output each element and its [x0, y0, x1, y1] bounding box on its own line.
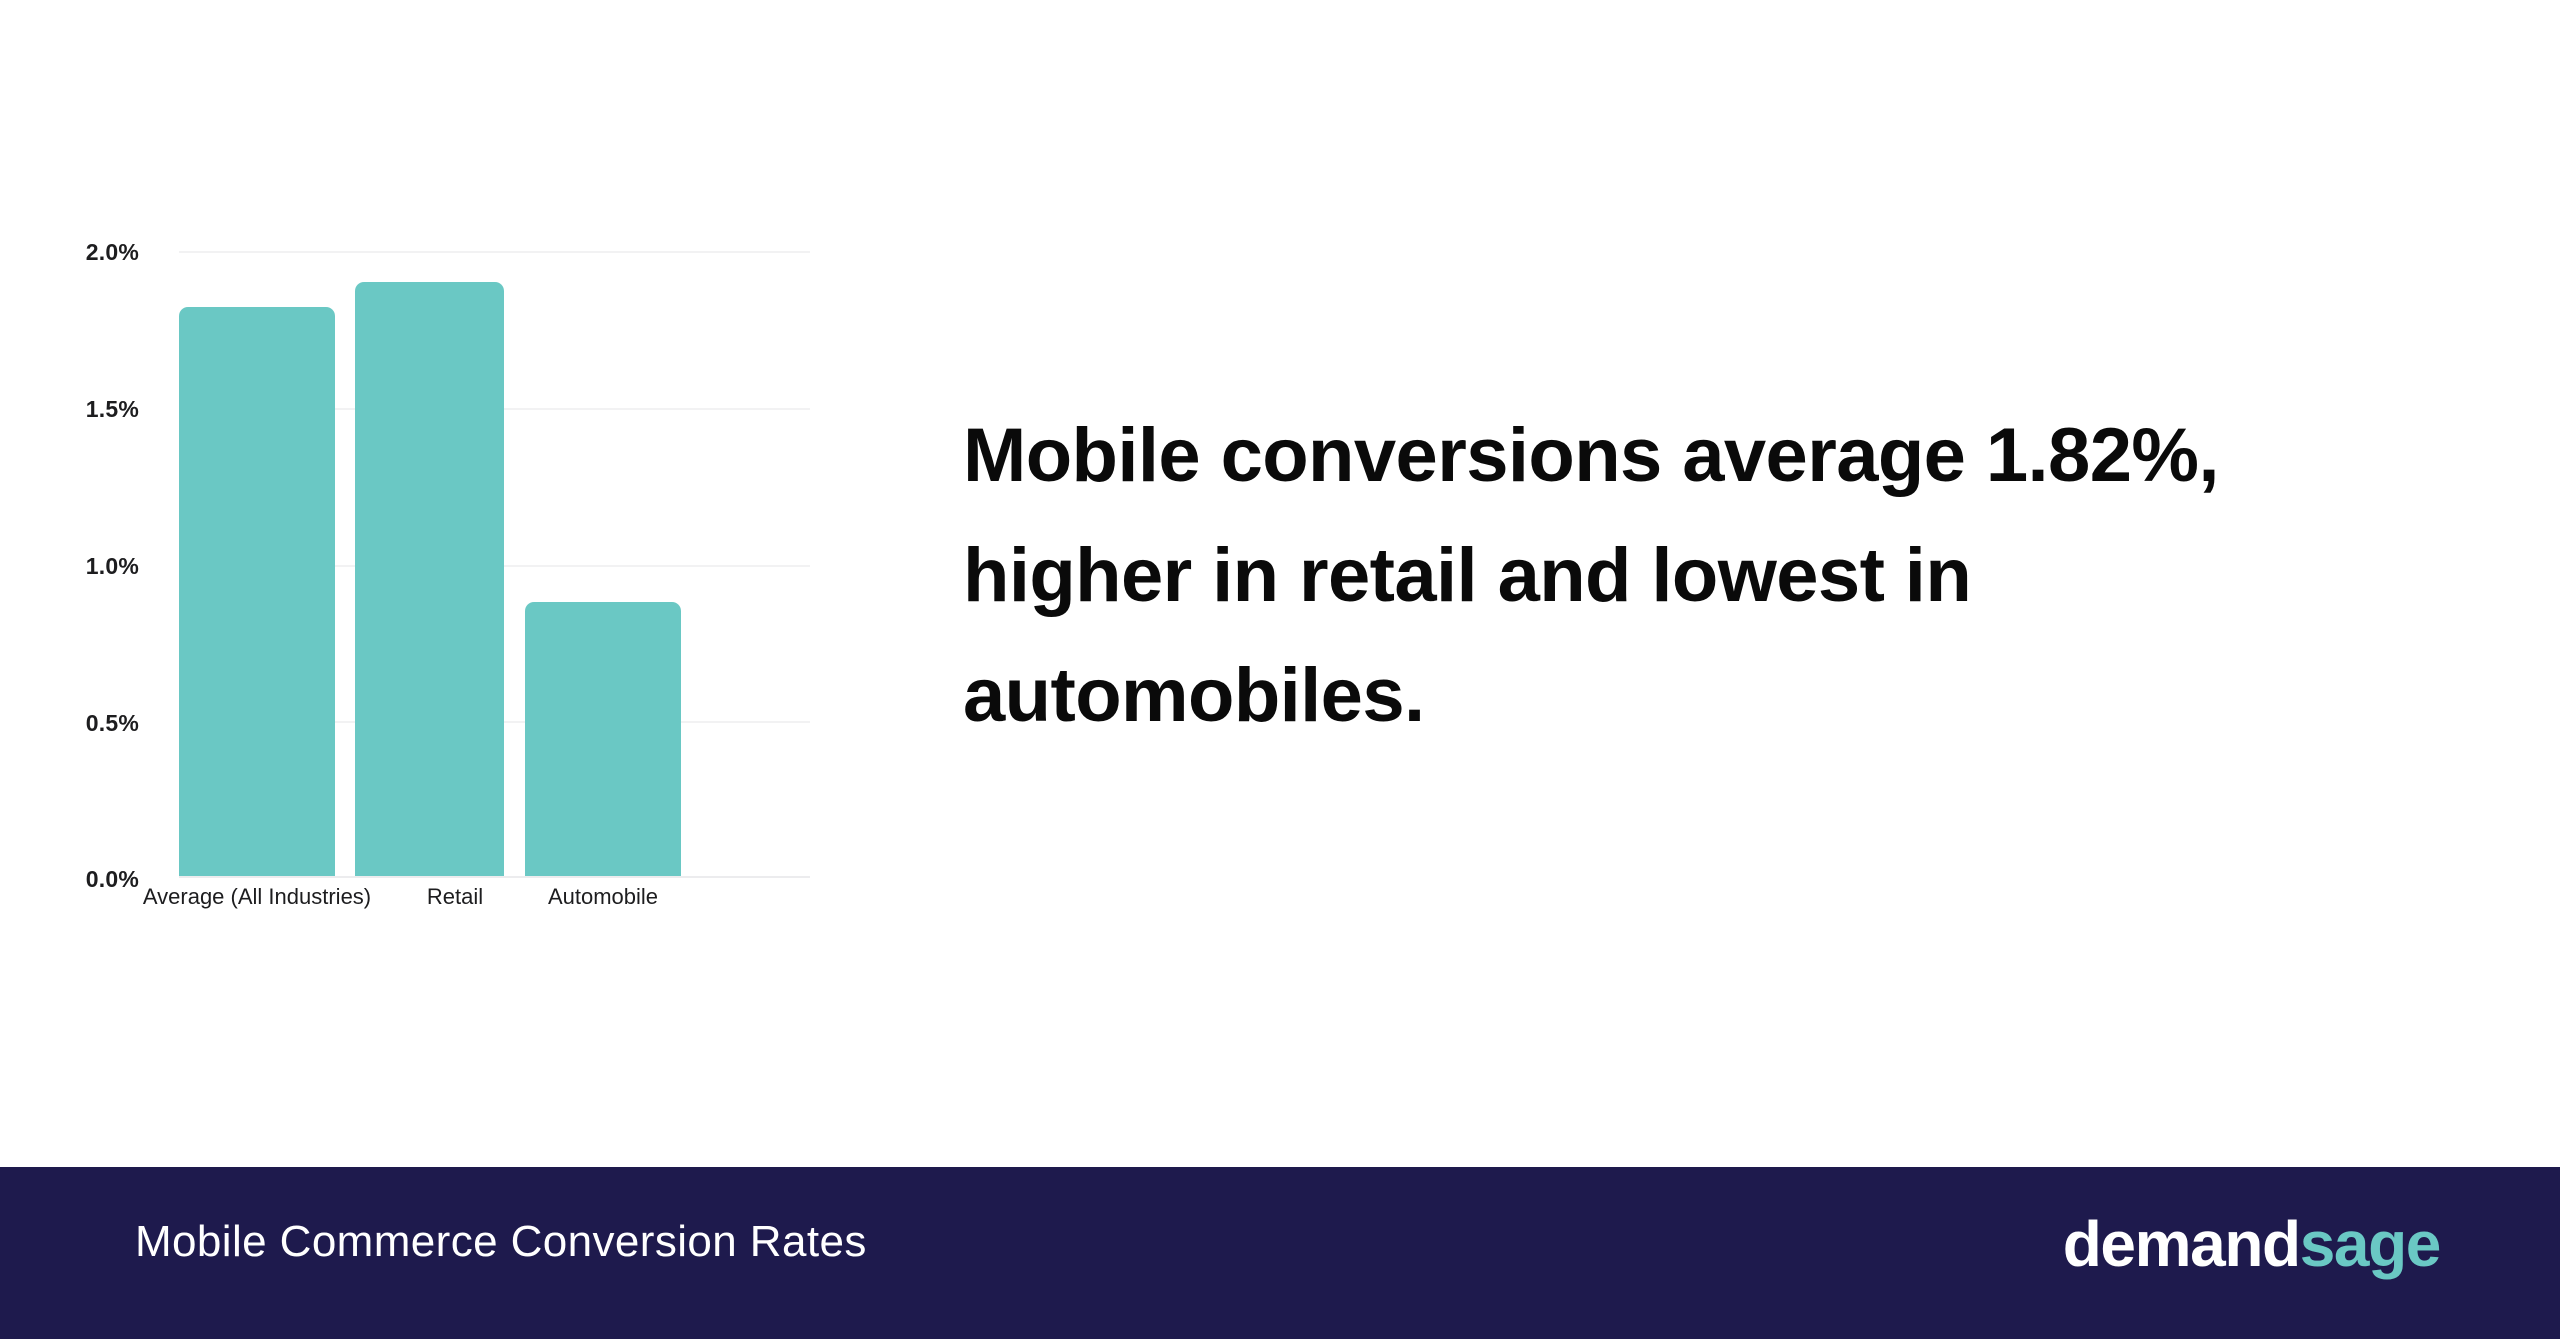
demandsage-logo[interactable]: demandsage — [2063, 1207, 2440, 1281]
plot-area — [179, 251, 810, 878]
headline-line-1: Mobile conversions average 1.82%, — [963, 396, 2503, 516]
headline: Mobile conversions average 1.82%, higher… — [963, 396, 2503, 756]
bar-average-all-industries[interactable] — [179, 307, 335, 878]
footer-bar: Mobile Commerce Conversion Rates demands… — [0, 1167, 2560, 1339]
x-axis-baseline — [179, 876, 810, 878]
infographic-canvas: 2.0% 1.5% 1.0% 0.5% 0.0% Average (All In… — [0, 0, 2560, 1339]
y-axis-tick-label-4: 2.0% — [53, 239, 139, 266]
logo-text-demand: demand — [2063, 1208, 2300, 1280]
x-axis-label-automobile: Automobile — [443, 884, 763, 910]
bar-automobile[interactable] — [525, 602, 681, 878]
bar-retail[interactable] — [355, 282, 504, 878]
y-axis-tick-label-2: 1.0% — [53, 553, 139, 580]
bar-chart: 2.0% 1.5% 1.0% 0.5% 0.0% Average (All In… — [0, 0, 900, 1167]
headline-line-3: automobiles. — [963, 636, 2503, 756]
logo-text-sage: sage — [2300, 1208, 2440, 1280]
headline-line-2: higher in retail and lowest in — [963, 516, 2503, 636]
y-axis-tick-label-1: 0.5% — [53, 710, 139, 737]
gridline-2pct — [179, 251, 810, 253]
footer-title: Mobile Commerce Conversion Rates — [135, 1217, 867, 1267]
y-axis-tick-label-3: 1.5% — [53, 396, 139, 423]
